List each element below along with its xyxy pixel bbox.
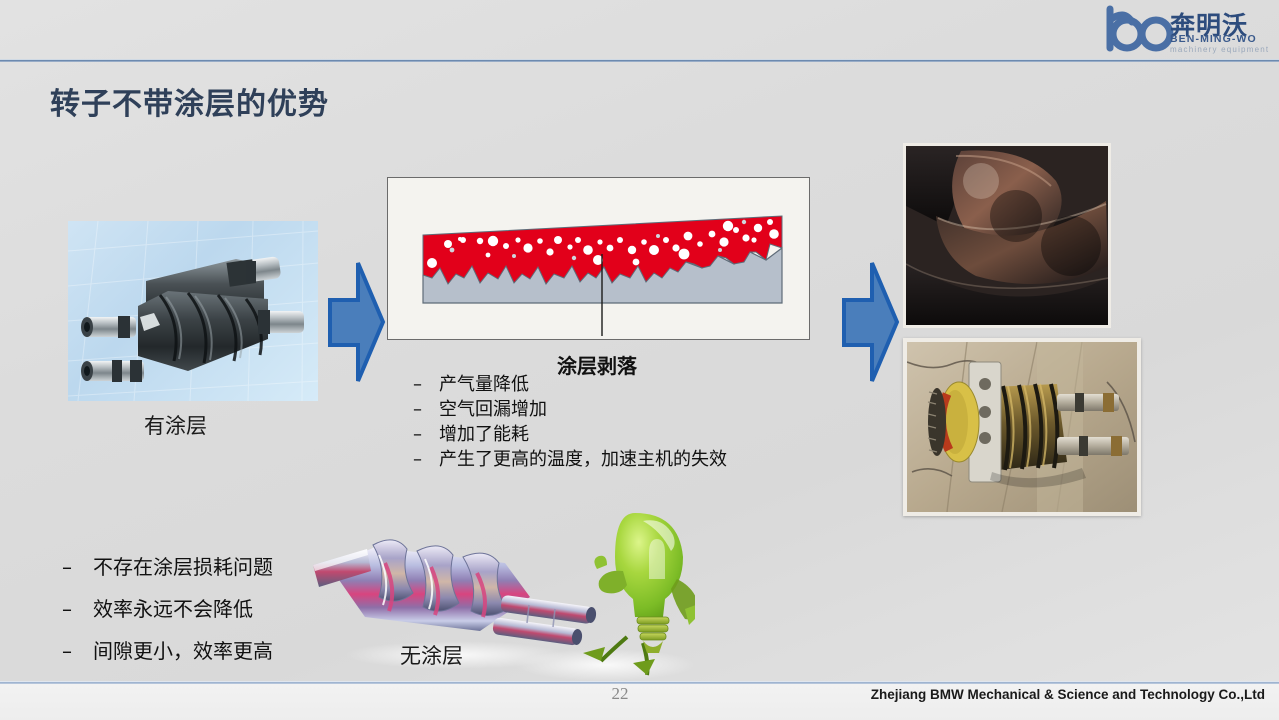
arrow-right-2 <box>840 255 900 390</box>
coating-delamination-diagram <box>387 177 810 340</box>
list-item: 产生了更高的温度，加速主机的失效 <box>413 447 813 472</box>
arrow-right-1 <box>326 255 386 390</box>
logo-tagline: machinery equipment <box>1170 45 1269 54</box>
disassembled-compressor-photo <box>903 338 1141 516</box>
coating-cross-section-graphic <box>388 178 807 337</box>
worn-rotor-closeup-photo <box>903 143 1111 328</box>
slide-canvas: 奔明沃 BEN-MING-WO machinery equipment 转子不带… <box>0 0 1279 720</box>
worn-rotor-graphic <box>906 146 1108 325</box>
coated-rotor-photo <box>68 221 318 401</box>
page-title: 转子不带涂层的优势 <box>50 79 329 123</box>
chrome-rotor-and-bulb-graphic <box>305 505 695 690</box>
header-divider <box>0 59 1279 62</box>
logo-english-name: BEN-MING-WO <box>1170 33 1257 45</box>
coated-rotor-caption: 有涂层 <box>144 410 207 440</box>
list-item: 产气量降低 <box>413 372 813 397</box>
uncoated-rotor-bulb-illustration <box>305 505 695 690</box>
compressor-airend-graphic <box>907 342 1137 512</box>
diagram-bullet-list: 产气量降低 空气回漏增加 增加了能耗 产生了更高的温度，加速主机的失效 <box>413 372 813 472</box>
list-item: 空气回漏增加 <box>413 397 813 422</box>
page-number: 22 <box>600 684 640 704</box>
footer-company-name: Zhejiang BMW Mechanical & Science and Te… <box>871 687 1265 702</box>
list-item: 增加了能耗 <box>413 422 813 447</box>
uncoated-rotor-caption: 无涂层 <box>400 640 463 670</box>
screw-rotor-pair-graphic <box>68 221 318 401</box>
company-logo: 奔明沃 BEN-MING-WO machinery equipment <box>1102 4 1267 56</box>
